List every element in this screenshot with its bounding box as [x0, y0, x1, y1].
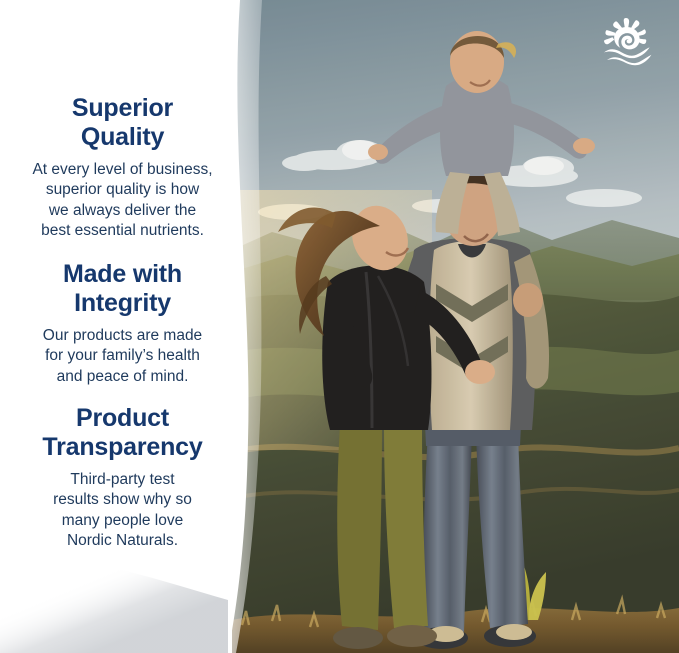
brand-logo [598, 16, 656, 66]
body-line: Nordic Naturals. [0, 531, 245, 551]
body-line: best essential nutrients. [0, 221, 245, 241]
heading-line: Made with [0, 260, 245, 289]
benefit-body-made-with-integrity: Our products are made for your family’s … [0, 326, 245, 387]
body-line: many people love [0, 511, 245, 531]
body-line: Our products are made [0, 326, 245, 346]
sun-waves-logo-icon [598, 16, 656, 66]
body-line: superior quality is how [0, 180, 245, 200]
heading-line: Superior [0, 94, 245, 123]
body-line: At every level of business, [0, 160, 245, 180]
heading-line: Integrity [0, 289, 245, 318]
benefit-heading-made-with-integrity: Made with Integrity [0, 260, 245, 317]
benefit-block-made-with-integrity: Made with Integrity Our products are mad… [0, 260, 249, 387]
benefit-block-product-transparency: Product Transparency Third-party test re… [0, 404, 245, 552]
body-line: for your family’s health [0, 346, 245, 366]
heading-line: Quality [0, 123, 245, 152]
benefit-heading-superior-quality: Superior Quality [0, 94, 245, 151]
heading-line: Transparency [0, 433, 245, 462]
promo-banner: Superior Quality At every level of busin… [0, 0, 679, 653]
body-line: results show why so [0, 490, 245, 510]
benefit-block-superior-quality: Superior Quality At every level of busin… [0, 94, 253, 242]
body-line: and peace of mind. [0, 367, 245, 387]
lifestyle-photo [232, 0, 679, 653]
heading-line: Product [0, 404, 245, 433]
body-line: Third-party test [0, 470, 245, 490]
body-line: we always deliver the [0, 201, 245, 221]
benefit-body-superior-quality: At every level of business, superior qua… [0, 160, 245, 242]
benefit-heading-product-transparency: Product Transparency [0, 404, 245, 461]
benefits-text-column: Superior Quality At every level of busin… [0, 0, 245, 653]
photo-illustration [232, 0, 679, 653]
benefit-body-product-transparency: Third-party test results show why so man… [0, 470, 245, 552]
